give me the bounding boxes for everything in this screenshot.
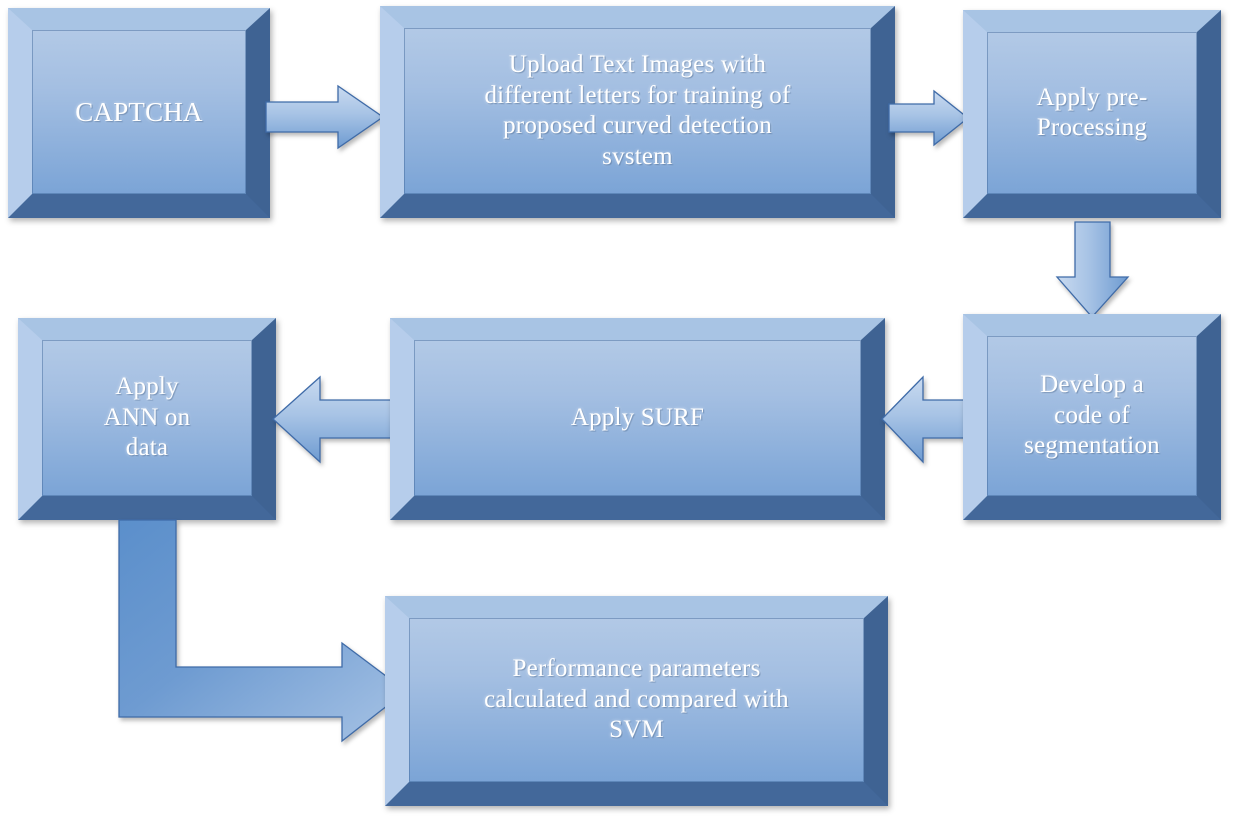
node-captcha-label: CAPTCHA (65, 96, 212, 129)
node-preprocess[interactable]: Apply pre- Processing (963, 10, 1221, 218)
arrow-ann-to-performance (118, 519, 408, 754)
arrow-captcha-to-upload (266, 84, 384, 150)
node-ann[interactable]: Apply ANN on data (18, 318, 276, 520)
node-segment-label: Develop a code of segmentation (1014, 370, 1170, 462)
node-performance-label: Performance parameters calculated and co… (474, 654, 799, 746)
node-upload[interactable]: Upload Text Images with different letter… (380, 6, 895, 218)
node-surf[interactable]: Apply SURF (390, 318, 885, 520)
node-preprocess-label: Apply pre- Processing (1027, 83, 1158, 144)
node-segment[interactable]: Develop a code of segmentation (963, 314, 1221, 520)
node-performance[interactable]: Performance parameters calculated and co… (385, 596, 888, 806)
arrow-preprocess-to-segment (1056, 222, 1130, 318)
flowchart-canvas: CAPTCHA Upload Text Images with differen… (0, 0, 1250, 826)
arrow-upload-to-preprocess (889, 89, 969, 147)
node-ann-label: Apply ANN on data (94, 372, 201, 464)
node-upload-label: Upload Text Images with different letter… (474, 50, 800, 172)
arrow-segment-to-surf (881, 375, 973, 465)
node-captcha[interactable]: CAPTCHA (8, 8, 270, 218)
node-surf-label: Apply SURF (561, 403, 714, 434)
arrow-surf-to-ann (272, 375, 392, 465)
